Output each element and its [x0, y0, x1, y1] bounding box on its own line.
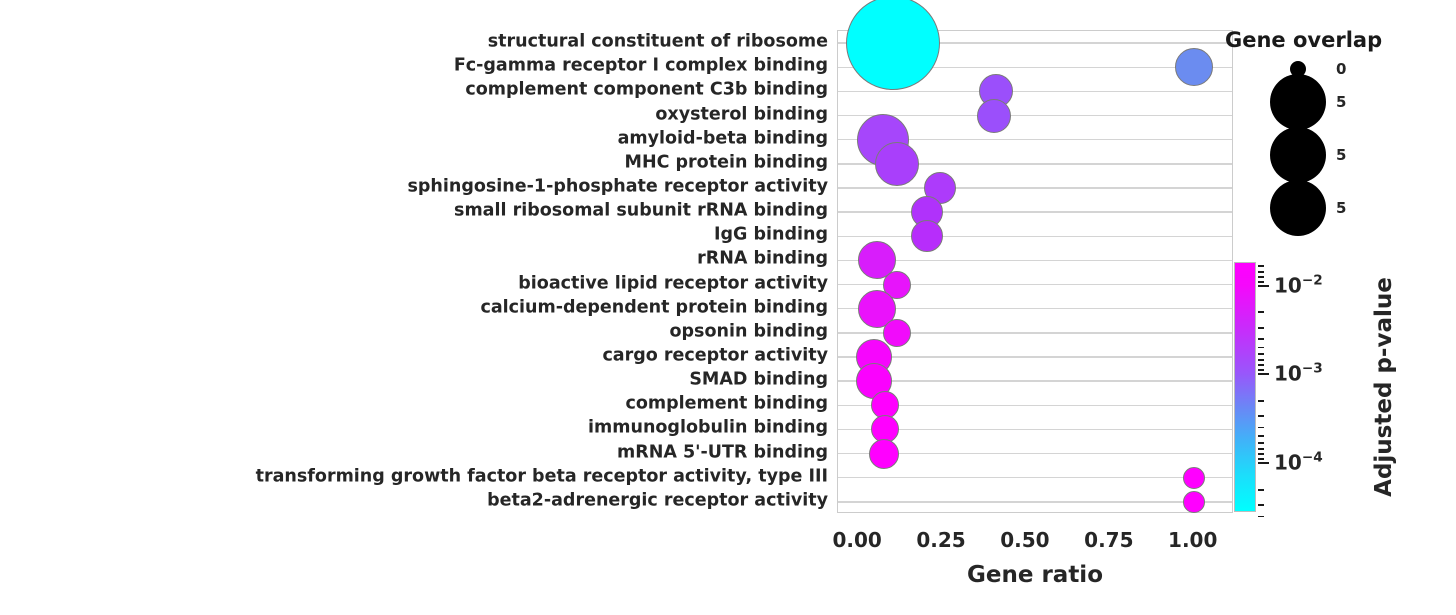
- size-legend-dot: [1270, 127, 1326, 183]
- y-axis-label: opsonin binding: [670, 323, 829, 341]
- colorbar-minor-tick: [1258, 453, 1264, 455]
- gridline: [838, 236, 1232, 237]
- y-axis-label: complement binding: [625, 396, 828, 414]
- x-axis-tick-label: 0.50: [1000, 528, 1049, 552]
- colorbar-minor-tick: [1258, 327, 1264, 329]
- colorbar-tick-label: 10−4: [1274, 450, 1323, 475]
- colorbar-minor-tick: [1258, 435, 1264, 437]
- bubble-marker: [883, 319, 911, 347]
- y-axis-label: rRNA binding: [697, 251, 828, 269]
- colorbar-tick-label: 10−3: [1274, 361, 1323, 386]
- gridline: [838, 477, 1232, 478]
- colorbar-minor-tick: [1258, 276, 1264, 278]
- y-axis-label: SMAD binding: [689, 371, 828, 389]
- x-axis-tick-label: 0.25: [916, 528, 965, 552]
- colorbar-minor-tick: [1258, 516, 1264, 518]
- x-axis-title: Gene ratio: [967, 562, 1103, 588]
- colorbar-minor-tick: [1258, 442, 1264, 444]
- colorbar-minor-tick: [1258, 458, 1264, 460]
- bubble-marker: [1183, 467, 1205, 489]
- bubble-marker: [869, 439, 899, 469]
- colorbar-minor-tick: [1258, 265, 1264, 267]
- colorbar-minor-tick: [1258, 427, 1264, 429]
- y-axis-label: oxysterol binding: [655, 106, 828, 124]
- bubble-marker: [1175, 48, 1213, 86]
- colorbar-minor-tick: [1258, 347, 1264, 349]
- colorbar-minor-tick: [1258, 359, 1264, 361]
- colorbar-major-tick: [1258, 285, 1269, 287]
- colorbar-minor-tick: [1258, 400, 1264, 402]
- plot-panel: [837, 30, 1233, 513]
- y-axis-label: mRNA 5'-UTR binding: [617, 444, 828, 462]
- gridline: [838, 211, 1232, 212]
- colorbar-major-tick: [1258, 462, 1269, 464]
- bubble-marker: [977, 99, 1011, 133]
- bubble-marker: [846, 0, 940, 90]
- y-axis-label: sphingosine-1-phosphate receptor activit…: [407, 178, 828, 196]
- y-axis-label: amyloid-beta binding: [618, 130, 828, 148]
- y-axis-label: calcium-dependent protein binding: [480, 299, 828, 317]
- colorbar-minor-tick: [1258, 448, 1264, 450]
- colorbar-minor-tick: [1258, 415, 1264, 417]
- size-legend-label: 0: [1336, 60, 1346, 78]
- colorbar-tick-label: 10−2: [1274, 273, 1323, 298]
- y-axis-label: IgG binding: [714, 227, 828, 245]
- y-axis-label: small ribosomal subunit rRNA binding: [454, 202, 828, 220]
- colorbar-minor-tick: [1258, 364, 1264, 366]
- x-axis-tick-label: 1.00: [1168, 528, 1217, 552]
- bubble-plot-figure: structural constituent of ribosomeFc-gam…: [0, 0, 1456, 615]
- size-legend-label: 5: [1336, 199, 1346, 217]
- y-axis-label: MHC protein binding: [625, 154, 828, 172]
- gridline: [838, 115, 1232, 116]
- colorbar-minor-tick: [1258, 281, 1264, 283]
- bubble-marker: [875, 142, 919, 186]
- colorbar-minor-tick: [1258, 489, 1264, 491]
- size-legend-dot: [1270, 180, 1326, 236]
- gridline: [838, 501, 1232, 502]
- size-legend-label: 5: [1336, 93, 1346, 111]
- gridline: [838, 187, 1232, 188]
- y-axis-category-labels: structural constituent of ribosomeFc-gam…: [0, 0, 828, 615]
- x-axis-tick-label: 0.00: [832, 528, 881, 552]
- colorbar-minor-tick: [1258, 369, 1264, 371]
- colorbar-minor-tick: [1258, 504, 1264, 506]
- y-axis-label: Fc-gamma receptor I complex binding: [454, 57, 828, 75]
- y-axis-label: beta2-adrenergic receptor activity: [487, 492, 828, 510]
- colorbar-major-tick: [1258, 373, 1269, 375]
- gridline: [838, 91, 1232, 92]
- colorbar-minor-tick: [1258, 338, 1264, 340]
- colorbar-title: Adjusted p-value: [1371, 277, 1397, 497]
- gridline: [838, 356, 1232, 357]
- gridline: [838, 380, 1232, 381]
- x-axis-tick-label: 0.75: [1084, 528, 1133, 552]
- y-axis-label: immunoglobulin binding: [588, 420, 828, 438]
- y-axis-label: complement component C3b binding: [465, 82, 828, 100]
- colorbar-minor-tick: [1258, 353, 1264, 355]
- gridline: [838, 308, 1232, 309]
- bubble-marker: [911, 220, 943, 252]
- y-axis-label: transforming growth factor beta receptor…: [256, 468, 828, 486]
- y-axis-label: structural constituent of ribosome: [488, 33, 828, 51]
- colorbar-minor-tick: [1258, 311, 1264, 313]
- colorbar-minor-tick: [1258, 271, 1264, 273]
- size-legend-dot: [1270, 74, 1326, 130]
- y-axis-label: bioactive lipid receptor activity: [518, 275, 828, 293]
- colorbar-gradient: [1234, 262, 1256, 512]
- bubble-marker: [1183, 491, 1205, 513]
- y-axis-label: cargo receptor activity: [602, 347, 828, 365]
- gridline: [838, 260, 1232, 261]
- size-legend-label: 5: [1336, 146, 1346, 164]
- size-legend-title: Gene overlap: [1225, 28, 1382, 52]
